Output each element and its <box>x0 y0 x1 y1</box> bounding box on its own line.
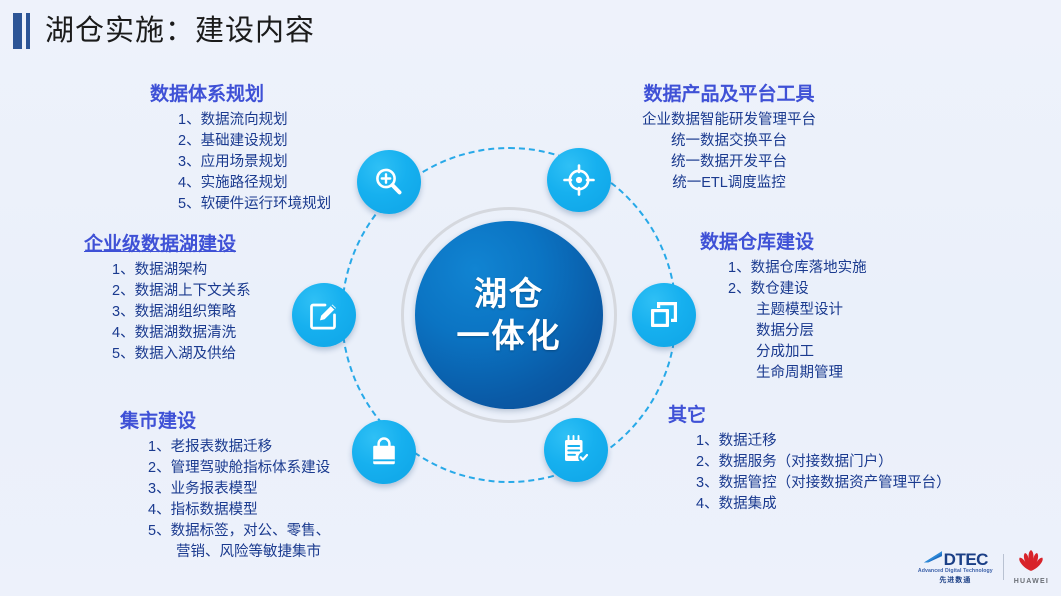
list-item: 2、数据湖上下文关系 <box>84 281 251 302</box>
list-item: 3、数据湖组织策略 <box>84 302 251 323</box>
core-label-line2: 一体化 <box>457 315 562 357</box>
huawei-flower-icon <box>1016 550 1046 576</box>
edit-square-icon <box>307 298 341 332</box>
huawei-logo: HUAWEI <box>1014 550 1049 585</box>
page-title: 湖仓实施：建设内容 <box>45 9 315 53</box>
dtec-name: DTEC <box>944 551 988 568</box>
section-item-list: 1、数据湖架构 2、数据湖上下文关系 3、数据湖组织策略 4、数据湖数据清洗 5… <box>84 260 251 365</box>
list-item: 4、数据湖数据清洗 <box>84 323 251 344</box>
section-block-enterprise-data-lake: 企业级数据湖建设 1、数据湖架构 2、数据湖上下文关系 3、数据湖组织策略 4、… <box>84 232 251 365</box>
dtec-chinese-name: 先进数通 <box>939 577 971 584</box>
huawei-name: HUAWEI <box>1014 578 1049 585</box>
dtec-wordmark: DTEC <box>923 550 988 568</box>
shopping-bag-icon <box>367 435 401 469</box>
section-heading: 数据产品及平台工具 <box>598 82 860 107</box>
list-item: 营销、风险等敏捷集市 <box>120 542 330 563</box>
section-heading: 企业级数据湖建设 <box>84 232 251 257</box>
node-enterprise-data-lake[interactable] <box>292 283 356 347</box>
section-heading: 数据体系规划 <box>150 82 331 107</box>
copy-layers-icon <box>647 298 681 332</box>
node-data-warehouse[interactable] <box>632 283 696 347</box>
dtec-arrow-icon <box>923 550 943 568</box>
logo-divider <box>1003 554 1004 580</box>
slide-canvas: 湖仓实施：建设内容 数据体系规划 1、数据流向规划 2、基础建设规划 3、应用场… <box>0 0 1061 596</box>
notepad-check-icon <box>559 433 593 467</box>
dtec-logo: DTEC Advanced Digital Technology 先进数通 <box>918 550 993 583</box>
hub-diagram: 湖仓 一体化 <box>295 118 725 518</box>
core-label-line1: 湖仓 <box>474 273 544 315</box>
node-data-products-platform-tools[interactable] <box>547 148 611 212</box>
slide-header: 湖仓实施：建设内容 <box>0 0 1061 62</box>
target-icon <box>562 163 596 197</box>
zoom-in-icon <box>372 165 406 199</box>
node-others[interactable] <box>544 418 608 482</box>
core-circle: 湖仓 一体化 <box>415 221 603 409</box>
list-item: 5、数据标签，对公、零售、 <box>120 521 330 542</box>
list-item: 1、数据湖架构 <box>84 260 251 281</box>
title-accent-bar-thick <box>13 13 22 49</box>
dtec-subtitle: Advanced Digital Technology <box>918 569 993 574</box>
title-accent-bar-thin <box>26 13 30 49</box>
logo-strip: DTEC Advanced Digital Technology 先进数通 H <box>918 546 1049 588</box>
node-data-system-planning[interactable] <box>357 150 421 214</box>
node-data-mart[interactable] <box>352 420 416 484</box>
list-item: 5、数据入湖及供给 <box>84 344 251 365</box>
